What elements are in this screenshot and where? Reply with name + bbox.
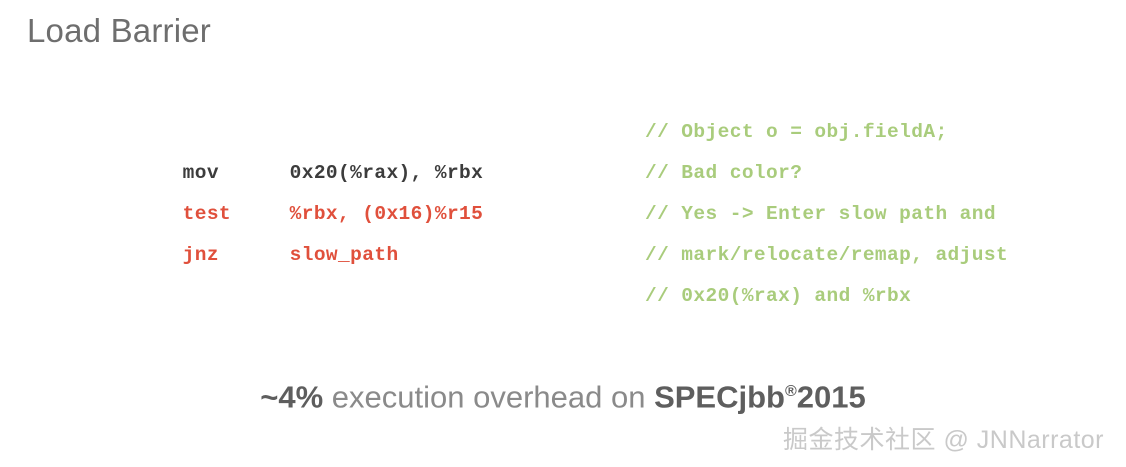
code-comment-block: // Object o = obj.fieldA; // Bad color? …	[645, 112, 1115, 317]
overhead-caption: ~4% execution overhead on SPECjbb®2015	[0, 372, 1126, 417]
page-title: Load Barrier	[27, 11, 211, 51]
slide-root: Load Barrier mov0x20(%rax), %rbx test%rb…	[0, 0, 1126, 467]
code-mnemonic: jnz	[183, 235, 290, 276]
caption-overhead-value: ~4%	[260, 379, 323, 414]
code-operands: 0x20(%rax), %rbx	[290, 162, 484, 184]
comment-line: // Bad color?	[645, 153, 1115, 194]
registered-trademark-icon: ®	[785, 383, 797, 400]
code-operands: %rbx, (0x16)%r15	[290, 203, 484, 225]
assembly-code-block: mov0x20(%rax), %rbx test%rbx, (0x16)%r15…	[110, 112, 610, 235]
caption-benchmark-name: SPECjbb	[654, 379, 785, 414]
code-operands: slow_path	[290, 244, 399, 266]
comment-line: // 0x20(%rax) and %rbx	[645, 276, 1115, 317]
comment-line: // Yes -> Enter slow path and	[645, 194, 1115, 235]
caption-middle-text: execution overhead on	[323, 379, 654, 414]
watermark: 掘金技术社区 @ JNNarrator	[783, 424, 1104, 456]
code-mnemonic: mov	[183, 153, 290, 194]
caption-benchmark-year: 2015	[797, 379, 866, 414]
comment-line: // Object o = obj.fieldA;	[645, 112, 1115, 153]
code-line: mov0x20(%rax), %rbx	[110, 112, 610, 153]
code-mnemonic: test	[183, 194, 290, 235]
comment-line: // mark/relocate/remap, adjust	[645, 235, 1115, 276]
